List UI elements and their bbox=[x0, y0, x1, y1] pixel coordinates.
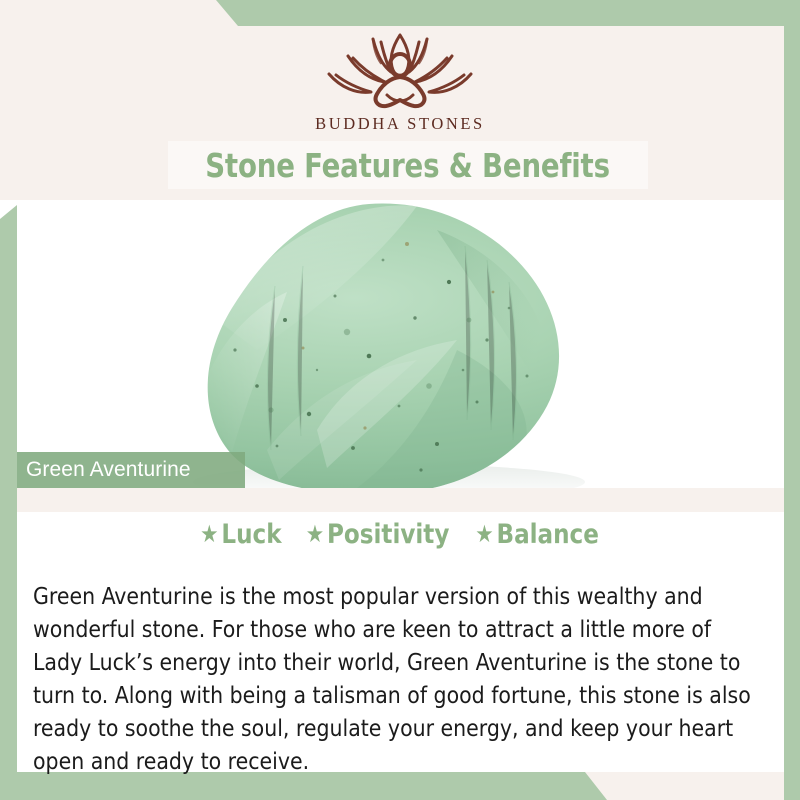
mid-cream-divider bbox=[17, 486, 784, 512]
stone-name-label: Green Aventurine bbox=[17, 458, 191, 482]
stone-hero-image bbox=[17, 200, 784, 488]
brand-name: BUDDHA STONES bbox=[0, 114, 800, 134]
star-icon: ★ bbox=[306, 520, 324, 548]
stone-name-badge: Green Aventurine bbox=[17, 452, 245, 488]
benefit-label-positivity: Positivity bbox=[327, 519, 449, 550]
page-title: Stone Features & Benefits bbox=[206, 146, 611, 185]
benefit-label-luck: Luck bbox=[221, 519, 281, 550]
stone-description: Green Aventurine is the most popular ver… bbox=[33, 580, 753, 778]
benefit-item-luck: ★Luck bbox=[200, 519, 281, 550]
star-icon: ★ bbox=[475, 520, 493, 548]
left-green-accent-bar bbox=[0, 205, 17, 800]
lotus-meditating-figure-icon bbox=[311, 22, 489, 110]
star-icon: ★ bbox=[200, 520, 218, 548]
benefit-item-positivity: ★Positivity bbox=[306, 519, 450, 550]
green-aventurine-stone-illustration bbox=[17, 200, 784, 488]
stone-features-poster: BUDDHA STONES Stone Features & Benefits bbox=[0, 0, 800, 800]
brand-logo: BUDDHA STONES bbox=[0, 22, 800, 134]
benefits-list: ★Luck ★Positivity ★Balance bbox=[0, 519, 800, 550]
benefit-label-balance: Balance bbox=[496, 519, 598, 550]
page-title-banner: Stone Features & Benefits bbox=[168, 141, 648, 189]
benefit-item-balance: ★Balance bbox=[475, 519, 599, 550]
